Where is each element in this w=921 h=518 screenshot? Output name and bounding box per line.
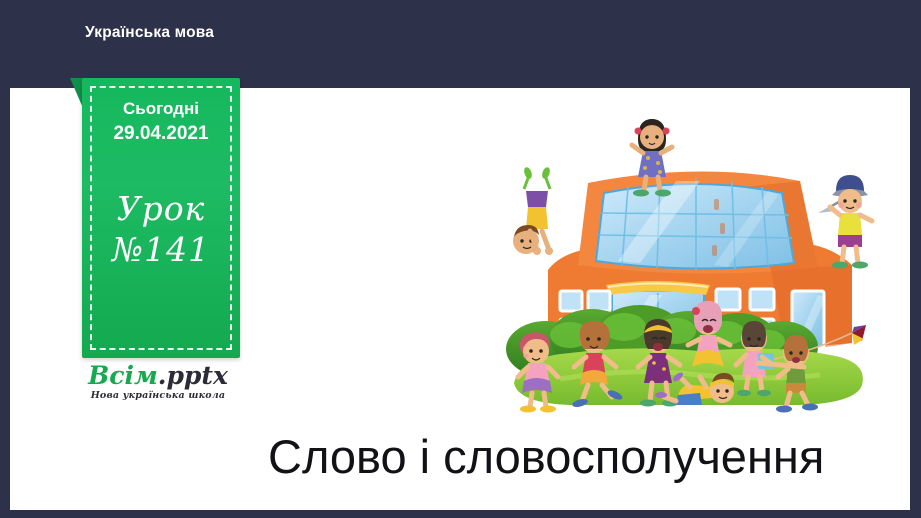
logo-name-dark: .pptx [158,361,228,390]
logo-wordmark: Всім.pptx [83,363,233,388]
slide-root: Українська мова Сьогодні 29.04.2021 Урок… [0,0,921,518]
page-title: Слово і словосполучення [268,432,888,481]
lesson-number: №141 [112,233,210,266]
banner-body: Сьогодні 29.04.2021 Урок №141 [82,78,240,358]
logo-tagline: Нова українська школа [83,390,233,401]
child-handstand [513,166,553,255]
site-logo: Всім.pptx Нова українська школа [83,363,233,401]
school-scene-svg [500,95,900,415]
lesson-word: Урок [117,192,206,225]
logo-name-green: Всім [88,361,158,390]
lesson-banner: Сьогодні 29.04.2021 Урок №141 [70,72,242,364]
school-children-illustration [500,95,900,415]
banner-content: Сьогодні 29.04.2021 Урок №141 [82,78,240,358]
today-date: 29.04.2021 [113,124,208,144]
today-label: Сьогодні [123,100,199,118]
subject-title: Українська мова [85,24,214,42]
